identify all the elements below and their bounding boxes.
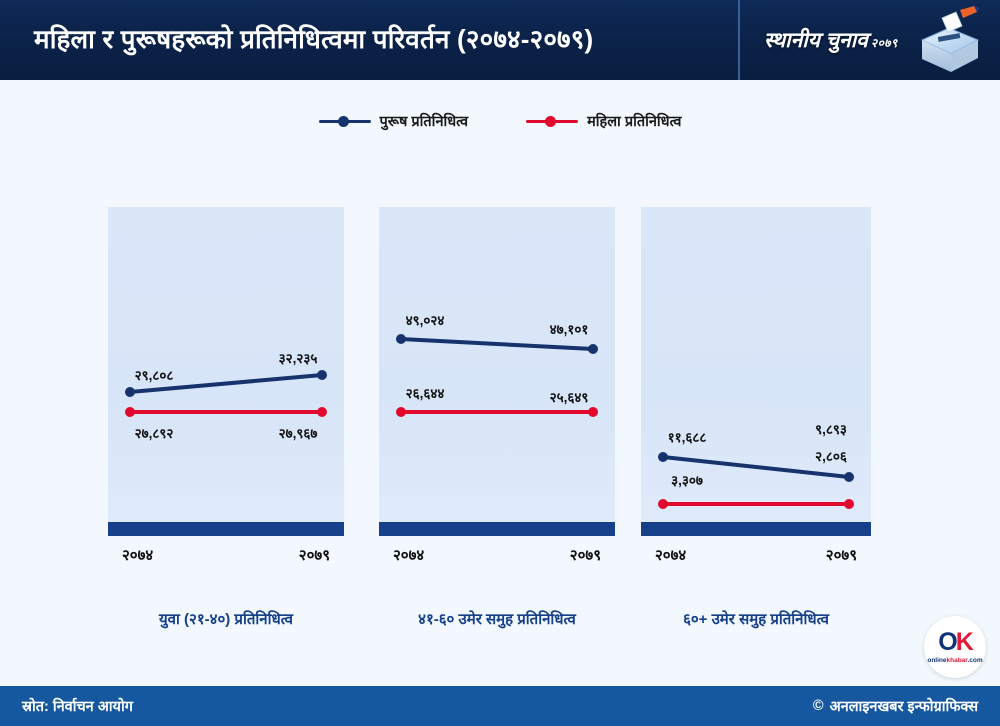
data-point-female-1 bbox=[317, 407, 327, 417]
logo-mark: OK bbox=[938, 630, 972, 655]
data-point-male-0 bbox=[396, 334, 406, 344]
x-axis-labels-1: २०७४ २०७९ bbox=[379, 536, 615, 565]
brand-label: स्थानीय चुनाव२०७९ bbox=[764, 26, 898, 54]
x-tick-2079-2: २०७९ bbox=[826, 545, 857, 565]
value-label-male-0: २९,८०८ bbox=[135, 366, 174, 384]
brand-year: २०७९ bbox=[871, 36, 898, 50]
header-title-container: महिला र पुरूषहरूको प्रतिनिधित्वमा परिवर्… bbox=[0, 0, 740, 80]
series-line-male bbox=[401, 339, 593, 349]
logo-sub-tld: .com bbox=[967, 657, 982, 664]
footer-credit-wrap: © अनलाइनखबर इन्फोग्राफिक्स bbox=[813, 696, 978, 716]
value-label-female-0: ३,३०७ bbox=[671, 471, 703, 489]
x-tick-2079-0: २०७९ bbox=[299, 545, 330, 565]
header-brand: स्थानीय चुनाव२०७९ bbox=[740, 0, 1000, 80]
x-tick-2079-1: २०७९ bbox=[570, 545, 601, 565]
legend-item-female: महिला प्रतिनिधित्व bbox=[526, 111, 681, 131]
logo-letter-k: K bbox=[956, 628, 972, 656]
legend-marker-male bbox=[319, 115, 371, 127]
data-point-female-1 bbox=[588, 407, 598, 417]
page-title: महिला र पुरूषहरूको प्रतिनिधित्वमा परिवर्… bbox=[34, 24, 593, 55]
value-label-female-1: २५,६४९ bbox=[550, 388, 589, 406]
copyright-icon: © bbox=[813, 698, 824, 714]
brand-text: स्थानीय चुनाव bbox=[764, 29, 868, 52]
series-lines-1 bbox=[379, 207, 615, 522]
chart-legend: पुरूष प्रतिनिधित्व महिला प्रतिनिधित्व bbox=[0, 106, 1000, 136]
value-label-female-0: २६,६४४ bbox=[406, 384, 445, 402]
x-axis-labels-2: २०७४ २०७९ bbox=[641, 536, 871, 565]
logo-subtext: onlinekhabar.com bbox=[927, 657, 982, 664]
legend-dot-female bbox=[545, 116, 556, 127]
data-point-female-0 bbox=[125, 407, 135, 417]
logo-sub-khabar: khabar bbox=[947, 657, 968, 664]
chart-caption-2: ६०+ उमेर समुह प्रतिनिधित्व bbox=[641, 609, 871, 629]
value-label-male-0: ११,६८८ bbox=[668, 428, 707, 446]
x-tick-2074-1: २०७४ bbox=[393, 545, 424, 565]
chart-panel-youth: २९,८०८३२,२३५२७,८९२२७,९६७ २०७४ २०७९ युवा … bbox=[108, 207, 344, 629]
charts-container: २९,८०८३२,२३५२७,८९२२७,९६७ २०७४ २०७९ युवा … bbox=[0, 207, 1000, 607]
header-bar: महिला र पुरूषहरूको प्रतिनिधित्वमा परिवर्… bbox=[0, 0, 1000, 80]
chart-caption-0: युवा (२१-४०) प्रतिनिधित्व bbox=[108, 609, 344, 629]
data-point-male-1 bbox=[844, 472, 854, 482]
axis-bar-1 bbox=[379, 522, 615, 536]
axis-bar-2 bbox=[641, 522, 871, 536]
data-point-male-1 bbox=[588, 344, 598, 354]
data-point-female-1 bbox=[844, 499, 854, 509]
footer-source: स्रोत: निर्वाचन आयोग bbox=[22, 696, 133, 716]
value-label-female-1: २,८०६ bbox=[815, 447, 847, 465]
legend-item-male: पुरूष प्रतिनिधित्व bbox=[319, 111, 469, 131]
data-point-female-0 bbox=[658, 499, 668, 509]
footer-credit: अनलाइनखबर इन्फोग्राफिक्स bbox=[830, 696, 978, 716]
logo-sub-online: online bbox=[927, 657, 946, 664]
value-label-female-0: २७,८९२ bbox=[135, 424, 174, 442]
legend-label-male: पुरूष प्रतिनिधित्व bbox=[380, 111, 469, 131]
value-label-female-1: २७,९६७ bbox=[279, 424, 318, 442]
legend-marker-female bbox=[526, 115, 578, 127]
x-tick-2074-2: २०७४ bbox=[655, 545, 686, 565]
data-point-male-1 bbox=[317, 370, 327, 380]
logo-letter-o: O bbox=[938, 628, 955, 656]
plot-area-0: २९,८०८३२,२३५२७,८९२२७,९६७ bbox=[108, 207, 344, 522]
legend-dot-male bbox=[338, 116, 349, 127]
chart-caption-1: ४१-६० उमेर समुह प्रतिनिधित्व bbox=[379, 609, 615, 629]
plot-area-1: ४९,०२४४७,१०१२६,६४४२५,६४९ bbox=[379, 207, 615, 522]
footer-bar: स्रोत: निर्वाचन आयोग © अनलाइनखबर इन्फोग्… bbox=[0, 686, 1000, 726]
data-point-male-0 bbox=[125, 387, 135, 397]
axis-bar-0 bbox=[108, 522, 344, 536]
legend-label-female: महिला प्रतिनिधित्व bbox=[587, 111, 681, 131]
value-label-male-1: ३२,२३५ bbox=[279, 349, 318, 367]
chart-panel-middle-age: ४९,०२४४७,१०१२६,६४४२५,६४९ २०७४ २०७९ ४१-६०… bbox=[379, 207, 615, 629]
value-label-male-1: ४७,१०१ bbox=[550, 320, 589, 338]
chart-panel-senior: ११,६८८९,८९३३,३०७२,८०६ २०७४ २०७९ ६०+ उमेर… bbox=[641, 207, 871, 629]
value-label-male-1: ९,८९३ bbox=[815, 420, 847, 438]
x-tick-2074-0: २०७४ bbox=[122, 545, 153, 565]
onlinekhabar-logo: OK onlinekhabar.com bbox=[924, 616, 986, 678]
data-point-male-0 bbox=[658, 452, 668, 462]
ballot-box-icon bbox=[916, 6, 982, 76]
plot-area-2: ११,६८८९,८९३३,३०७२,८०६ bbox=[641, 207, 871, 522]
x-axis-labels-0: २०७४ २०७९ bbox=[108, 536, 344, 565]
data-point-female-0 bbox=[396, 407, 406, 417]
value-label-male-0: ४९,०२४ bbox=[406, 311, 445, 329]
